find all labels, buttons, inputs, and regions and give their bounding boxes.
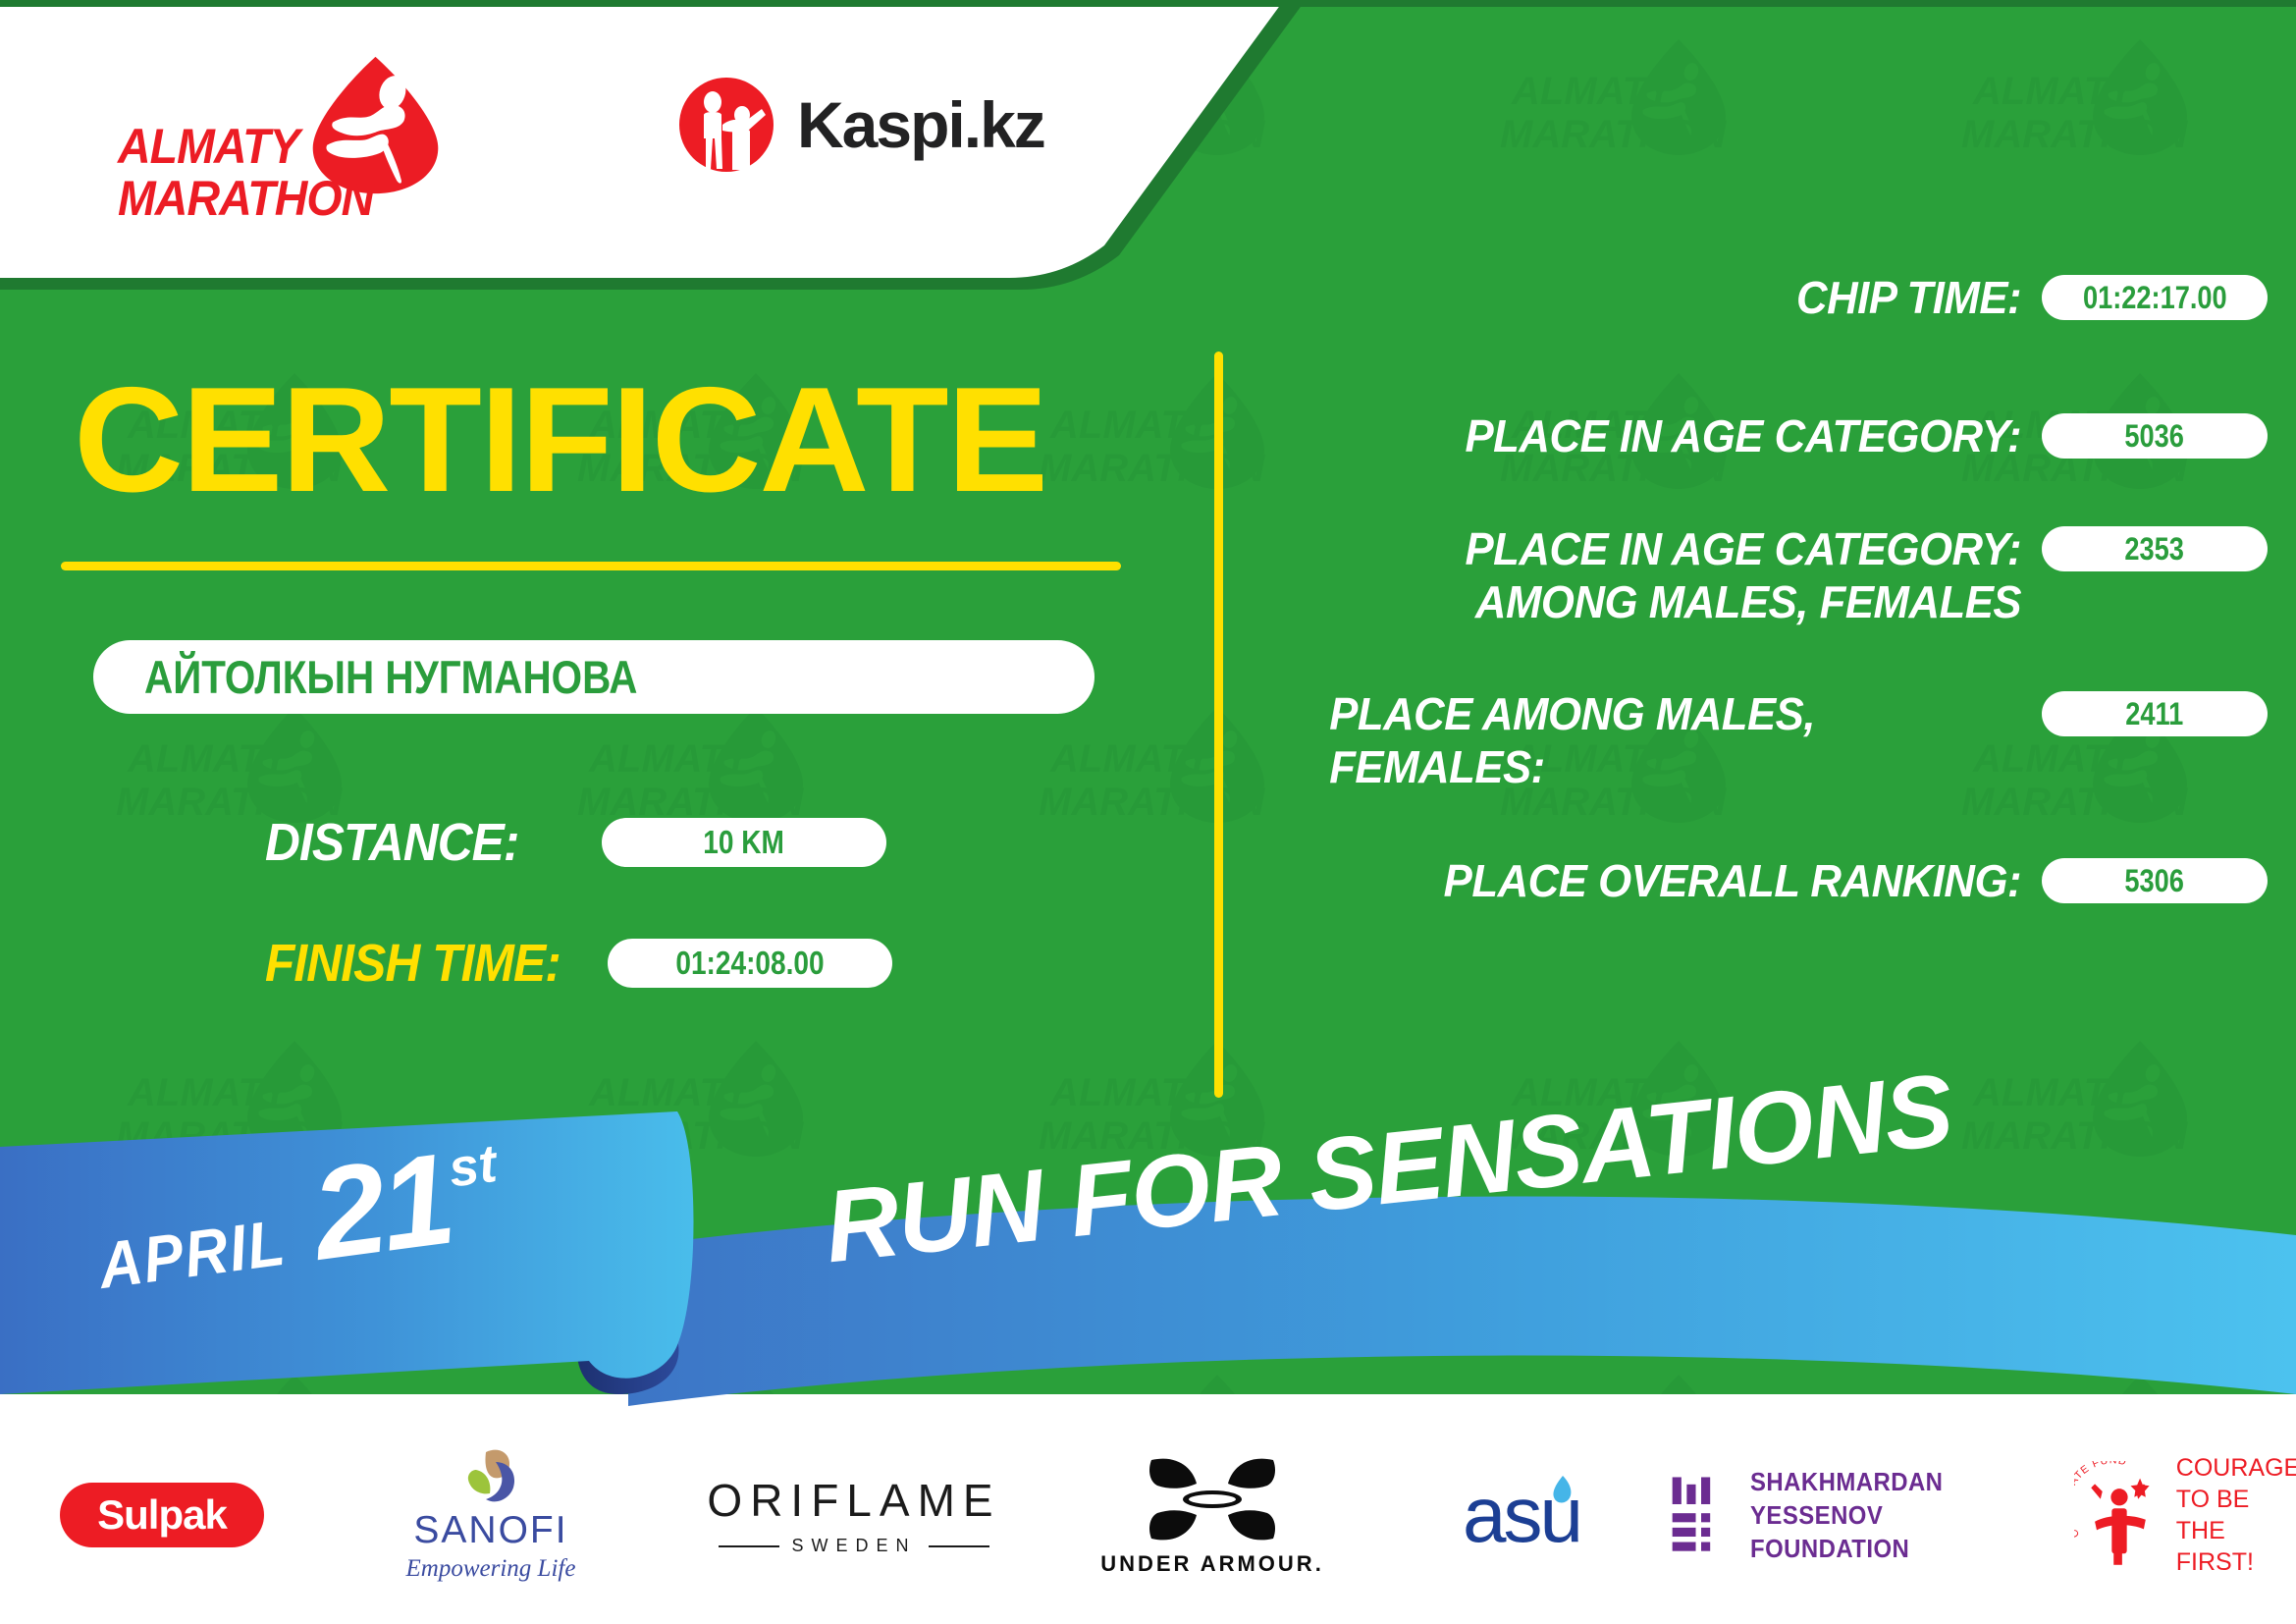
yessenov-line1: SHAKHMARDAN YESSENOV xyxy=(1750,1465,2055,1532)
sponsor-asu: asu xyxy=(1374,1441,1669,1589)
kaspi-circle-icon xyxy=(677,76,775,174)
place-age-category-value-pill: 5036 xyxy=(2042,413,2268,459)
corporate-fund-line3: THE FIRST! xyxy=(2176,1515,2296,1578)
asu-logo: asu xyxy=(1463,1470,1580,1560)
place-age-category-row: PLACE IN AGE CATEGORY: 5036 xyxy=(1256,409,2268,462)
sulpak-logo: Sulpak xyxy=(60,1483,264,1547)
title-underline xyxy=(61,562,1121,570)
page-title: CERTIFICATE xyxy=(74,365,1046,514)
sponsor-yessenov-foundation: SHAKHMARDAN YESSENOV FOUNDATION xyxy=(1669,1441,2081,1589)
sanofi-wordmark: SANOFI xyxy=(413,1509,567,1552)
oriflame-rule-left xyxy=(719,1545,779,1547)
event-month: APRIL xyxy=(94,1205,291,1303)
kaspi-wordmark: Kaspi.kz xyxy=(797,87,1044,162)
sponsor-sulpak: Sulpak xyxy=(0,1441,324,1589)
chip-time-value: 01:22:17.00 xyxy=(2083,280,2227,316)
almaty-marathon-wordmark: ALMATY MARATHON xyxy=(118,121,373,225)
place-age-category-label: PLACE IN AGE CATEGORY: xyxy=(1296,409,2042,462)
under-armour-logo: UNDER ARMOUR. xyxy=(1100,1454,1324,1577)
oriflame-rule-right xyxy=(929,1545,989,1547)
chip-time-label: CHIP TIME: xyxy=(1296,271,2042,324)
header-banner: ALMATY MARATHON Kaspi.kz xyxy=(0,0,1306,290)
place-among-gender-value-pill: 2411 xyxy=(2042,691,2268,736)
corporate-fund-line2: TO BE xyxy=(2176,1484,2296,1515)
oriflame-tagline: SWEDEN xyxy=(791,1536,916,1556)
finish-time-value: 01:24:08.00 xyxy=(675,945,824,982)
distance-value: 10 KM xyxy=(704,824,785,861)
event-day: 21 xyxy=(304,1124,458,1289)
yessenov-wordmark: SHAKHMARDAN YESSENOV FOUNDATION xyxy=(1750,1465,2055,1565)
top-green-strip xyxy=(0,0,2296,7)
place-overall-label: PLACE OVERALL RANKING: xyxy=(1296,854,2042,907)
sponsor-oriflame: ORIFLAME SWEDEN xyxy=(658,1441,1050,1589)
finish-time-row: FINISH TIME: 01:24:08.00 xyxy=(265,933,892,994)
sponsor-corporate-fund: CORPORATE FUND COURAGE TO BE THE FIRST! xyxy=(2081,1441,2296,1589)
distance-row: DISTANCE: 10 KM xyxy=(265,812,886,873)
yessenov-logo: SHAKHMARDAN YESSENOV FOUNDATION xyxy=(1669,1465,2081,1565)
place-age-category-gender-label-line2: AMONG MALES, FEMALES xyxy=(1296,575,2021,628)
sanofi-logo: SANOFI Empowering Life xyxy=(406,1448,576,1583)
sanofi-mark-icon xyxy=(453,1448,529,1509)
event-day-suffix: st xyxy=(446,1133,501,1200)
place-age-category-value: 5036 xyxy=(2125,418,2185,455)
sanofi-tagline: Empowering Life xyxy=(406,1555,576,1583)
asu-drop-icon xyxy=(1549,1474,1575,1507)
oriflame-logo: ORIFLAME SWEDEN xyxy=(707,1474,1000,1556)
place-age-category-gender-value: 2353 xyxy=(2125,531,2185,568)
participant-name-field: АЙТОЛКЫН НУГМАНОВА xyxy=(93,640,1095,714)
place-overall-value: 5306 xyxy=(2125,863,2185,899)
corporate-fund-runner-icon: CORPORATE FUND xyxy=(2074,1461,2164,1569)
sponsor-under-armour: UNDER ARMOUR. xyxy=(1050,1441,1374,1589)
corporate-fund-line1: COURAGE xyxy=(2176,1452,2296,1484)
place-among-gender-value: 2411 xyxy=(2125,696,2183,732)
finish-time-value-pill: 01:24:08.00 xyxy=(608,939,892,988)
certificate-page: ALMATY MARATHON Kaspi.kz CERTIFICATE АЙТ… xyxy=(0,0,2296,1624)
kaspi-logo: Kaspi.kz xyxy=(677,71,1044,179)
place-overall-value-pill: 5306 xyxy=(2042,858,2268,903)
vertical-divider xyxy=(1214,352,1223,1098)
almaty-logo-line2: MARATHON xyxy=(118,173,373,225)
place-among-gender-label-line2: FEMALES: xyxy=(1329,740,2021,793)
chip-time-row: CHIP TIME: 01:22:17.00 xyxy=(1256,271,2268,324)
participant-name-value: АЙТОЛКЫН НУГМАНОВА xyxy=(144,650,637,704)
place-among-gender-label-line1: PLACE AMONG MALES, xyxy=(1329,687,2021,740)
distance-label: DISTANCE: xyxy=(265,812,519,873)
under-armour-mark-icon xyxy=(1138,1454,1287,1544)
corporate-fund-logo: CORPORATE FUND COURAGE TO BE THE FIRST! xyxy=(2074,1452,2296,1578)
oriflame-sub: SWEDEN xyxy=(719,1536,988,1556)
sponsor-bar: Sulpak SANOFI Empowering Life ORIFLAME S… xyxy=(0,1406,2296,1624)
corporate-fund-slogan: COURAGE TO BE THE FIRST! xyxy=(2176,1452,2296,1578)
almaty-logo-line1: ALMATY xyxy=(118,121,373,173)
sponsor-sanofi: SANOFI Empowering Life xyxy=(324,1441,658,1589)
oriflame-wordmark: ORIFLAME xyxy=(707,1474,1000,1527)
yessenov-mark-icon xyxy=(1669,1474,1729,1556)
place-age-category-gender-label: PLACE IN AGE CATEGORY: AMONG MALES, FEMA… xyxy=(1296,522,2042,628)
place-among-gender-label: PLACE AMONG MALES, FEMALES: xyxy=(1296,687,2042,793)
place-age-category-gender-label-line1: PLACE IN AGE CATEGORY: xyxy=(1296,522,2021,575)
place-among-gender-row: PLACE AMONG MALES, FEMALES: 2411 xyxy=(1256,687,2268,793)
place-overall-row: PLACE OVERALL RANKING: 5306 xyxy=(1256,854,2268,907)
yessenov-line2: FOUNDATION xyxy=(1750,1532,2055,1565)
place-age-category-gender-row: PLACE IN AGE CATEGORY: AMONG MALES, FEMA… xyxy=(1256,522,2268,628)
place-age-category-gender-value-pill: 2353 xyxy=(2042,526,2268,571)
finish-time-label: FINISH TIME: xyxy=(265,933,561,994)
under-armour-wordmark: UNDER ARMOUR. xyxy=(1100,1551,1324,1577)
distance-value-pill: 10 KM xyxy=(602,818,886,867)
almaty-marathon-logo: ALMATY MARATHON xyxy=(118,54,442,211)
chip-time-value-pill: 01:22:17.00 xyxy=(2042,275,2268,320)
